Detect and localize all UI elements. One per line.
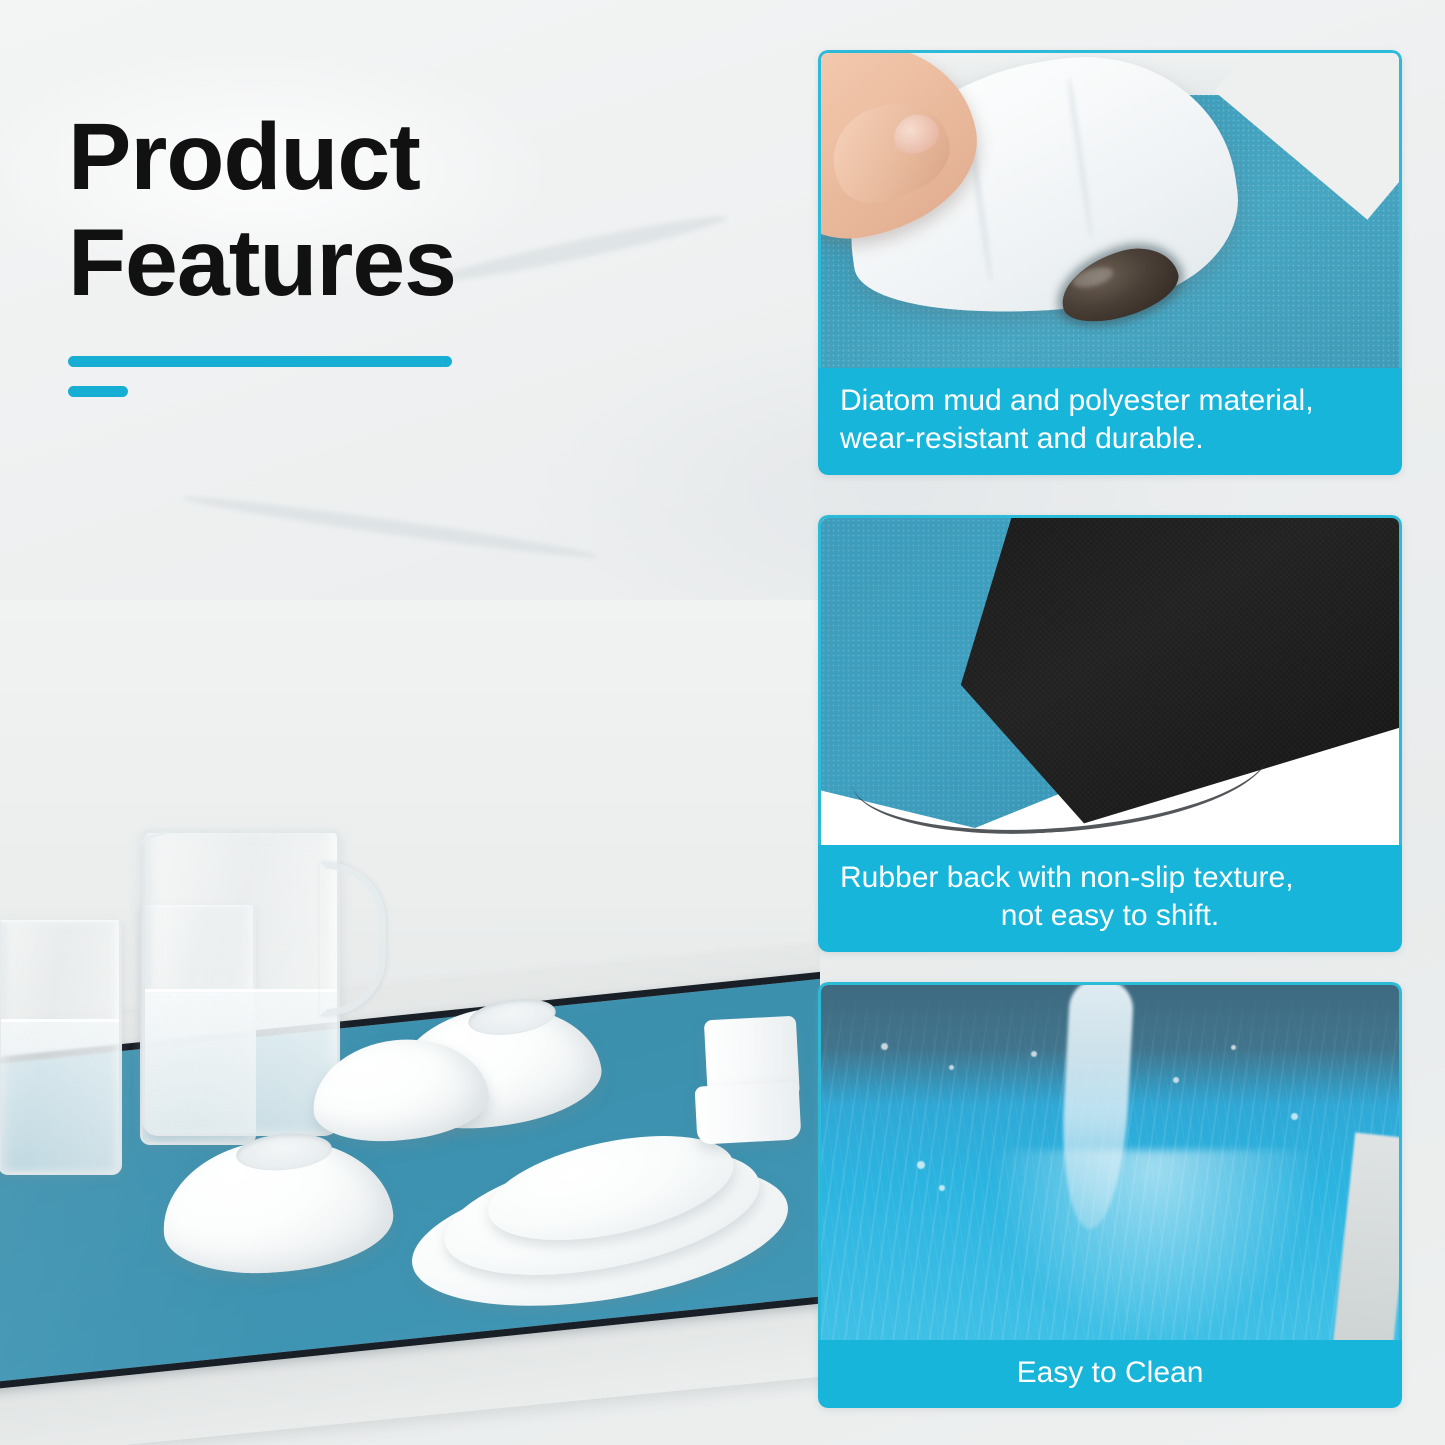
feature-caption-3: Easy to Clean: [818, 1340, 1402, 1408]
feature-caption-2: Rubber back with non-slip texture, not e…: [818, 845, 1402, 952]
ceramic-cup: [695, 1081, 802, 1144]
feature-image-2: [818, 515, 1402, 845]
feature-caption-1-line-2: wear-resistant and durable.: [840, 420, 1380, 458]
water-bubble: [1231, 1045, 1236, 1050]
feature-card-1: Diatom mud and polyester material, wear-…: [818, 50, 1402, 475]
feature-caption-1: Diatom mud and polyester material, wear-…: [818, 368, 1402, 475]
water-splash: [994, 1150, 1314, 1340]
cloth-fold: [1066, 77, 1094, 236]
page-title: Product Features: [68, 104, 708, 317]
hero-product-scene: [0, 600, 820, 1445]
feature-image-3: [818, 982, 1402, 1340]
page-title-line-1: Product: [68, 104, 708, 210]
water-bubble: [949, 1065, 954, 1070]
water-bubble: [881, 1043, 888, 1050]
water-bubble: [1291, 1113, 1298, 1120]
drinking-glass: [0, 920, 122, 1175]
water-bubble: [939, 1185, 945, 1191]
feature-caption-2-line-2: not easy to shift.: [840, 897, 1380, 935]
page-title-line-2: Features: [68, 210, 708, 316]
pitcher-water: [145, 989, 337, 1133]
feature-card-2: Rubber back with non-slip texture, not e…: [818, 515, 1402, 952]
title-rule-long: [68, 356, 452, 367]
feature-caption-3-line-1: Easy to Clean: [1017, 1356, 1204, 1389]
title-rule-short: [68, 386, 128, 397]
feature-image-1: [818, 50, 1402, 368]
glass-pitcher: [142, 830, 340, 1136]
feature-caption-1-line-1: Diatom mud and polyester material,: [840, 384, 1314, 417]
glass-water: [1, 1019, 119, 1172]
product-features-infographic: Product Features: [0, 0, 1445, 1445]
feature-card-3: Easy to Clean: [818, 982, 1402, 1408]
water-bubble: [917, 1161, 925, 1169]
water-bubble: [1031, 1051, 1037, 1057]
feature-caption-2-line-1: Rubber back with non-slip texture,: [840, 861, 1294, 894]
water-bubble: [1173, 1077, 1179, 1083]
